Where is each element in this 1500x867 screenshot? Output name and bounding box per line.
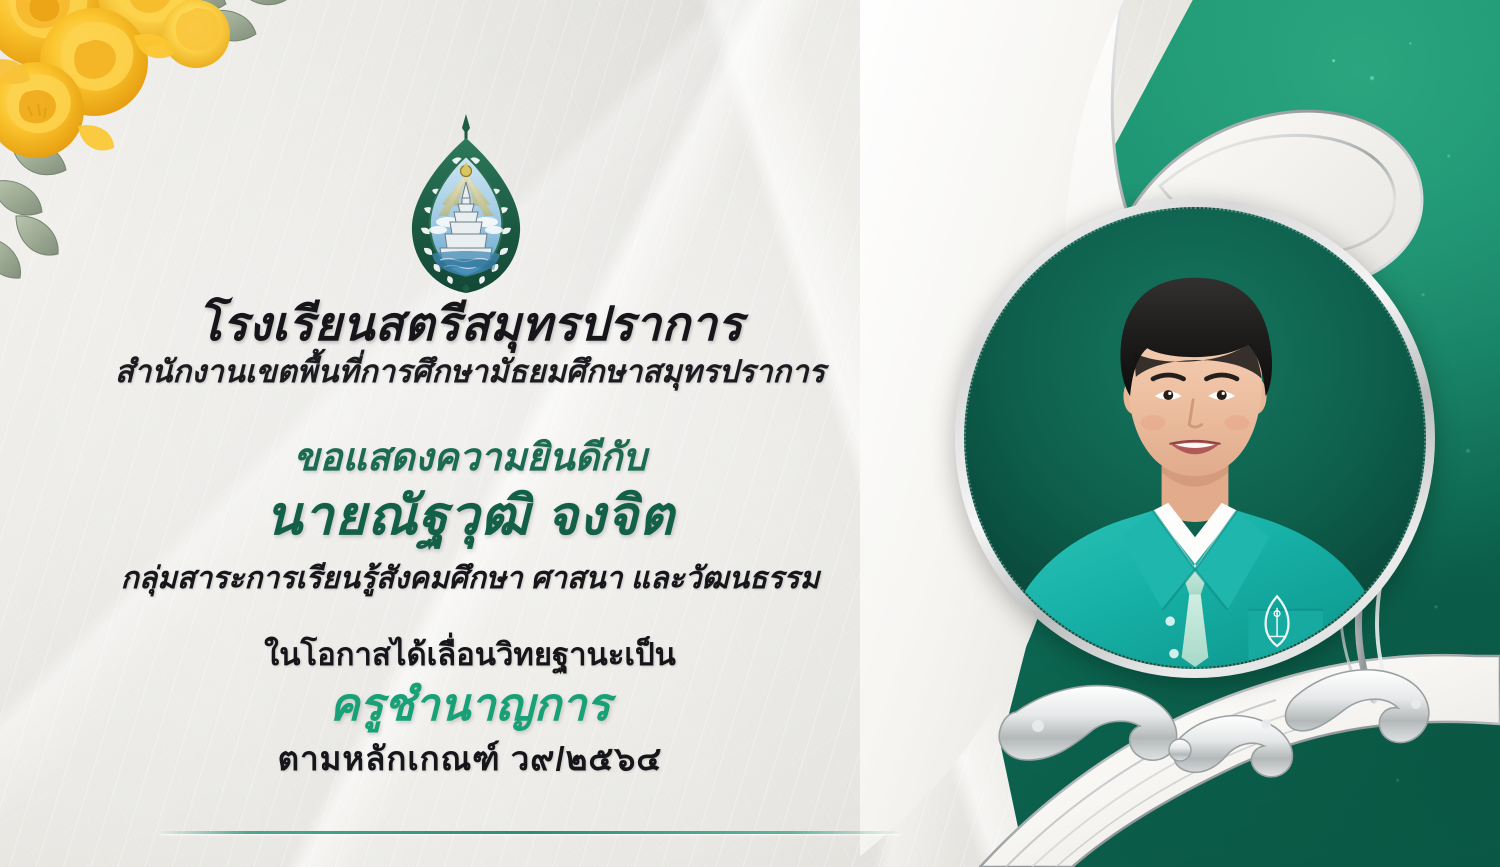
leaf-5 <box>0 181 42 215</box>
yellow-flowers-decoration-icon <box>0 0 312 300</box>
school-emblem-icon <box>392 112 540 297</box>
kanok-bead-1 <box>1032 720 1044 732</box>
school-name: โรงเรียนสตรีสมุทรปราการ <box>0 298 940 351</box>
person-illustration <box>966 209 1424 667</box>
academic-rank: ครูชำนาญการ <box>0 678 940 732</box>
leaf-7 <box>0 238 21 278</box>
department-name: กลุ่มสาระการเรียนรู้สังคมศึกษา ศาสนา และ… <box>0 560 940 598</box>
kanok-right <box>1286 670 1429 743</box>
poster-text-block: โรงเรียนสตรีสมุทรปราการ สำนักงานเขตพื้นท… <box>0 298 940 780</box>
kanok-bead-2 <box>1261 719 1271 729</box>
criteria-reference: ตามหลักเกณฑ์ ว๙/๒๕๖๔ <box>0 738 940 779</box>
kanok-center <box>1174 716 1293 777</box>
congratulation-line: ขอแสดงความยินดีกับ <box>0 436 940 482</box>
kanok-left <box>999 686 1176 761</box>
leaf-3 <box>234 0 286 5</box>
office-name: สำนักงานเขตพื้นที่การศึกษามัธยมศึกษาสมุท… <box>0 353 940 390</box>
occasion-line: ในโอกาสได้เลื่อนวิทยฐานะเป็น <box>0 636 940 675</box>
thai-kanok-ornament-icon <box>930 600 1460 840</box>
bottom-divider <box>160 831 900 834</box>
person-name: นายณัฐวุฒิ จงจิต <box>0 485 940 548</box>
kanok-bead-center <box>1169 739 1191 761</box>
flower-cluster <box>0 0 230 158</box>
leaf-6 <box>16 216 58 255</box>
kanok-bead-3 <box>1411 699 1421 709</box>
congratulation-poster: โรงเรียนสตรีสมุทรปราการ สำนักงานเขตพื้นท… <box>0 0 1500 867</box>
